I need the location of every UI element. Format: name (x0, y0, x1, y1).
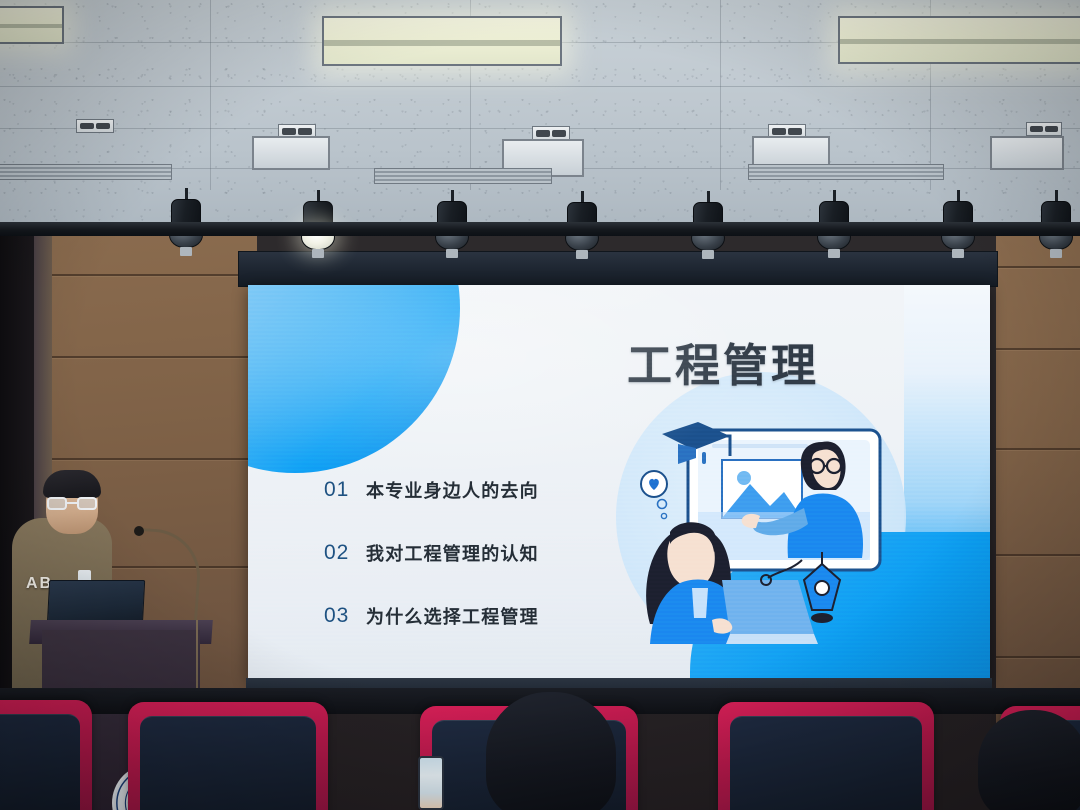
ceiling-linear-vent (748, 164, 944, 180)
agenda-number: 03 (324, 604, 366, 628)
decor-circle-topleft (248, 285, 460, 473)
wood-panel-seam (996, 656, 1080, 658)
lecture-hall-scene: 工程管理 01 本专业身边人的去向 02 我对工程管理的认知 03 为什么选择工… (0, 0, 1080, 810)
agenda-label: 我对工程管理的认知 (366, 540, 539, 566)
agenda-list: 01 本专业身边人的去向 02 我对工程管理的认知 03 为什么选择工程管理 (324, 477, 614, 666)
projected-slide: 工程管理 01 本专业身边人的去向 02 我对工程管理的认知 03 为什么选择工… (248, 285, 990, 680)
wood-panel-seam (996, 348, 1080, 350)
ceiling-panel-light (838, 16, 1080, 64)
gooseneck-microphone (135, 528, 204, 628)
agenda-item: 01 本专业身边人的去向 (324, 477, 614, 503)
agenda-label: 本专业身边人的去向 (366, 477, 539, 503)
audience-head (486, 692, 616, 810)
ceiling (0, 0, 1080, 258)
wood-panel-seam (996, 448, 1080, 450)
wood-panel-seam (996, 266, 1080, 268)
wood-panel-seam (996, 554, 1080, 556)
ceiling-speaker (1026, 122, 1062, 136)
ceiling-linear-vent (0, 164, 172, 180)
ceiling-panel-light (0, 6, 64, 44)
agenda-number: 02 (324, 541, 366, 565)
microphone-capsule (134, 526, 144, 536)
auditorium-seat (718, 702, 934, 810)
agenda-item: 02 我对工程管理的认知 (324, 540, 614, 566)
slide-title: 工程管理 (548, 329, 898, 394)
audience-seating (0, 675, 1080, 810)
ceiling-panel-light (322, 16, 562, 66)
presentation-slide: 工程管理 01 本专业身边人的去向 02 我对工程管理的认知 03 为什么选择工… (248, 285, 990, 680)
ceiling-air-vent (990, 136, 1064, 170)
ceiling-linear-vent (374, 168, 552, 184)
speaker-hair (43, 470, 101, 498)
wood-panel-seam (52, 458, 257, 460)
projection-screen: 工程管理 01 本专业身边人的去向 02 我对工程管理的认知 03 为什么选择工… (238, 251, 998, 705)
online-learning-illustration (626, 412, 894, 670)
audience-head (978, 710, 1080, 810)
wood-panel-seam (52, 274, 257, 276)
auditorium-seat (0, 700, 92, 810)
agenda-item: 03 为什么选择工程管理 (324, 603, 614, 629)
agenda-number: 01 (324, 478, 366, 502)
ceiling-tile-seam (720, 0, 721, 190)
auditorium-seat (128, 702, 328, 810)
agenda-label: 为什么选择工程管理 (366, 603, 539, 629)
ceiling-tile-seam (210, 0, 211, 190)
ceiling-air-vent (252, 136, 330, 170)
screen-roller-case (238, 251, 998, 287)
ceiling-speaker (76, 119, 114, 133)
ceiling-tile-seam (0, 86, 1080, 87)
smartphone[interactable] (418, 756, 444, 810)
wood-panel-seam (52, 356, 257, 358)
eyeglasses (47, 497, 97, 510)
lighting-truss (0, 222, 1080, 236)
